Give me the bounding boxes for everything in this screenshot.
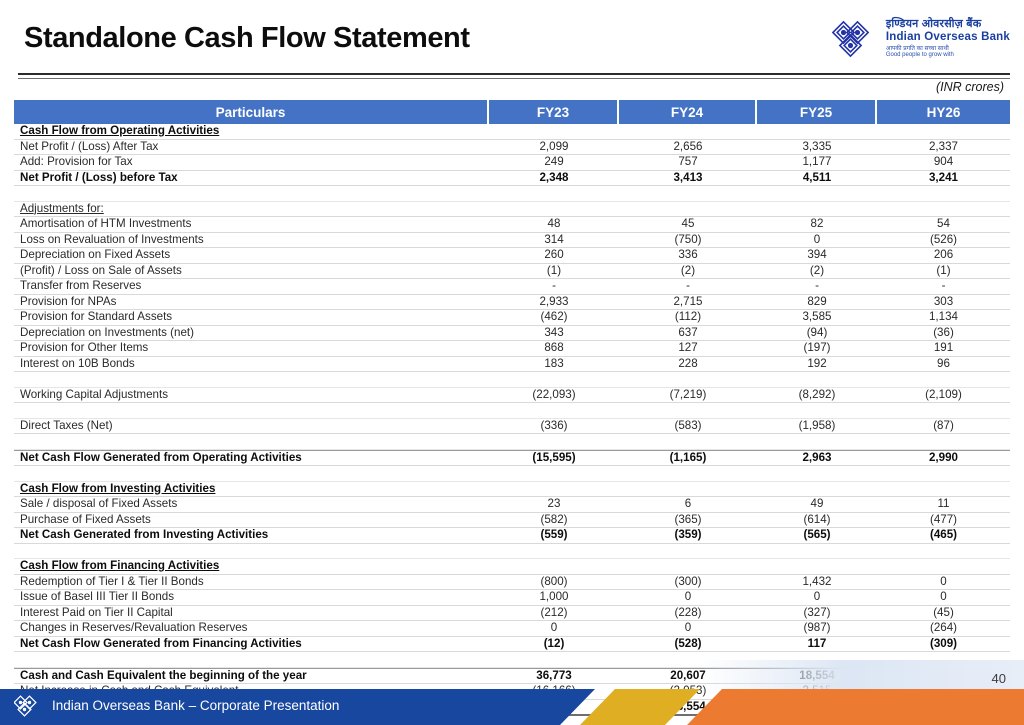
row-value: 2,337	[877, 140, 1010, 156]
row-value: (1)	[877, 264, 1010, 280]
row-label: Net Profit / (Loss) before Tax	[14, 171, 489, 187]
row-label: Net Profit / (Loss) After Tax	[14, 140, 489, 156]
page-number: 40	[992, 671, 1006, 686]
row-value: (583)	[619, 419, 757, 435]
column-header-fy24: FY24	[619, 100, 757, 124]
table-row: Depreciation on Fixed Assets260336394206	[14, 248, 1010, 264]
row-value: 206	[877, 248, 1010, 264]
row-value: 249	[489, 155, 619, 171]
row-label: Redemption of Tier I & Tier II Bonds	[14, 575, 489, 591]
table-row: Sale / disposal of Fixed Assets2364911	[14, 497, 1010, 513]
row-value: 314	[489, 233, 619, 249]
row-value: 54	[877, 217, 1010, 233]
row-value	[489, 202, 619, 218]
row-value: 3,335	[757, 140, 877, 156]
row-value: -	[757, 279, 877, 295]
row-value: 96	[877, 357, 1010, 373]
row-value: 1,432	[757, 575, 877, 591]
logo-hindi-name: इण्डियन ओवरसीज़ बैंक	[886, 19, 1010, 31]
row-label: Issue of Basel III Tier II Bonds	[14, 590, 489, 606]
row-value: (614)	[757, 513, 877, 529]
title-divider	[18, 73, 1010, 79]
row-value: 0	[619, 621, 757, 637]
row-value: (197)	[757, 341, 877, 357]
row-value: 0	[877, 590, 1010, 606]
row-value: 127	[619, 341, 757, 357]
row-label: Interest on 10B Bonds	[14, 357, 489, 373]
row-value: (228)	[619, 606, 757, 622]
row-value: 2,715	[619, 295, 757, 311]
column-header-hy26: HY26	[877, 100, 1010, 124]
row-value: -	[489, 279, 619, 295]
table-row: Net Profit / (Loss) After Tax2,0992,6563…	[14, 140, 1010, 156]
row-value	[757, 403, 877, 419]
row-value	[489, 559, 619, 575]
row-value: (465)	[877, 528, 1010, 544]
footer-bar: Indian Overseas Bank – Corporate Present…	[0, 689, 1024, 725]
table-row	[14, 186, 1010, 202]
row-value: (212)	[489, 606, 619, 622]
row-label	[14, 434, 489, 450]
footer-logo-mark	[14, 695, 42, 719]
row-value	[877, 544, 1010, 560]
row-value: 336	[619, 248, 757, 264]
table-row: Issue of Basel III Tier II Bonds1,000000	[14, 590, 1010, 606]
row-value: 2,099	[489, 140, 619, 156]
column-header-particulars: Particulars	[14, 100, 489, 124]
row-value: (94)	[757, 326, 877, 342]
row-value	[619, 559, 757, 575]
bank-logo: इण्डियन ओवरसीज़ बैंक Indian Overseas Ban…	[832, 16, 1010, 62]
row-value: 904	[877, 155, 1010, 171]
row-value: 1,134	[877, 310, 1010, 326]
row-value: (526)	[877, 233, 1010, 249]
table-row: (Profit) / Loss on Sale of Assets(1)(2)(…	[14, 264, 1010, 280]
row-value: (112)	[619, 310, 757, 326]
table-row: Provision for Other Items868127(197)191	[14, 341, 1010, 357]
row-value: (359)	[619, 528, 757, 544]
row-value: -	[877, 279, 1010, 295]
row-label: Depreciation on Fixed Assets	[14, 248, 489, 264]
row-value: -	[619, 279, 757, 295]
row-value: (264)	[877, 621, 1010, 637]
row-value: 11	[877, 497, 1010, 513]
row-value: 0	[619, 590, 757, 606]
row-value	[877, 372, 1010, 388]
row-value	[619, 482, 757, 498]
row-value	[877, 559, 1010, 575]
row-label: Provision for Standard Assets	[14, 310, 489, 326]
page-title: Standalone Cash Flow Statement	[24, 22, 470, 55]
row-value: (2)	[619, 264, 757, 280]
table-row: Add: Provision for Tax2497571,177904	[14, 155, 1010, 171]
table-row	[14, 466, 1010, 482]
row-value: 191	[877, 341, 1010, 357]
row-value: 1,177	[757, 155, 877, 171]
row-value: 2,656	[619, 140, 757, 156]
table-header-row: Particulars FY23 FY24 FY25 HY26	[14, 100, 1010, 124]
row-value: (300)	[619, 575, 757, 591]
row-value: (45)	[877, 606, 1010, 622]
table-row	[14, 544, 1010, 560]
row-label: Amortisation of HTM Investments	[14, 217, 489, 233]
row-value: (2,109)	[877, 388, 1010, 404]
row-value: (7,219)	[619, 388, 757, 404]
row-value	[619, 466, 757, 482]
table-row	[14, 403, 1010, 419]
row-label: Provision for Other Items	[14, 341, 489, 357]
row-value: 49	[757, 497, 877, 513]
row-value: (8,292)	[757, 388, 877, 404]
row-value: 0	[757, 233, 877, 249]
row-value: 48	[489, 217, 619, 233]
row-value: 3,413	[619, 171, 757, 187]
row-value	[489, 434, 619, 450]
row-value: (559)	[489, 528, 619, 544]
table-row: Net Cash Flow Generated from Financing A…	[14, 637, 1010, 653]
row-value	[757, 434, 877, 450]
row-value	[757, 124, 877, 140]
table-row: Net Profit / (Loss) before Tax2,3483,413…	[14, 171, 1010, 187]
row-value	[489, 403, 619, 419]
row-value: 0	[489, 621, 619, 637]
table-row: Net Cash Generated from Investing Activi…	[14, 528, 1010, 544]
row-value: 303	[877, 295, 1010, 311]
table-body: Cash Flow from Operating ActivitiesNet P…	[14, 124, 1010, 716]
row-value	[489, 466, 619, 482]
row-value	[489, 372, 619, 388]
row-value	[489, 482, 619, 498]
table-row: Loss on Revaluation of Investments314(75…	[14, 233, 1010, 249]
row-value: (462)	[489, 310, 619, 326]
row-value	[877, 124, 1010, 140]
row-value: 394	[757, 248, 877, 264]
table-row: Purchase of Fixed Assets(582)(365)(614)(…	[14, 513, 1010, 529]
row-value	[877, 466, 1010, 482]
row-value: (1,165)	[619, 450, 757, 467]
row-value: 2,990	[877, 450, 1010, 467]
row-value: 228	[619, 357, 757, 373]
table-row: Net Cash Flow Generated from Operating A…	[14, 450, 1010, 467]
row-value: (327)	[757, 606, 877, 622]
row-value	[757, 186, 877, 202]
row-value: (15,595)	[489, 450, 619, 467]
row-label: Cash Flow from Operating Activities	[14, 124, 489, 140]
row-label: Loss on Revaluation of Investments	[14, 233, 489, 249]
row-value: 192	[757, 357, 877, 373]
row-label: Net Cash Flow Generated from Operating A…	[14, 450, 489, 467]
row-label: Cash and Cash Equivalent the beginning o…	[14, 668, 489, 685]
table-row: Cash Flow from Operating Activities	[14, 124, 1010, 140]
row-value	[757, 372, 877, 388]
row-value: (565)	[757, 528, 877, 544]
row-value: 36,773	[489, 668, 619, 685]
footer-label: Indian Overseas Bank – Corporate Present…	[52, 698, 339, 713]
row-label: Add: Provision for Tax	[14, 155, 489, 171]
row-value: (2)	[757, 264, 877, 280]
row-value: (987)	[757, 621, 877, 637]
row-label	[14, 544, 489, 560]
row-value: 343	[489, 326, 619, 342]
table-row: Adjustments for:	[14, 202, 1010, 218]
row-value: 868	[489, 341, 619, 357]
row-value	[757, 202, 877, 218]
row-value: (477)	[877, 513, 1010, 529]
row-label	[14, 466, 489, 482]
row-label: Transfer from Reserves	[14, 279, 489, 295]
row-value: 23	[489, 497, 619, 513]
row-value: 6	[619, 497, 757, 513]
row-value: (800)	[489, 575, 619, 591]
row-label: Direct Taxes (Net)	[14, 419, 489, 435]
table-row: Changes in Reserves/Revaluation Reserves…	[14, 621, 1010, 637]
row-value: 2,963	[757, 450, 877, 467]
row-value	[489, 186, 619, 202]
table-row: Redemption of Tier I & Tier II Bonds(800…	[14, 575, 1010, 591]
row-value: 829	[757, 295, 877, 311]
row-value	[619, 403, 757, 419]
table-row	[14, 372, 1010, 388]
row-value	[619, 434, 757, 450]
row-value	[619, 544, 757, 560]
row-label	[14, 372, 489, 388]
row-value: (1,958)	[757, 419, 877, 435]
row-value: 1,000	[489, 590, 619, 606]
table-row: Amortisation of HTM Investments48458254	[14, 217, 1010, 233]
row-value	[619, 186, 757, 202]
row-label: Cash Flow from Financing Activities	[14, 559, 489, 575]
row-label: Interest Paid on Tier II Capital	[14, 606, 489, 622]
row-value: (582)	[489, 513, 619, 529]
units-label: (INR crores)	[936, 80, 1004, 94]
table-row	[14, 434, 1010, 450]
row-value: 2,348	[489, 171, 619, 187]
row-value: 3,585	[757, 310, 877, 326]
row-label: Provision for NPAs	[14, 295, 489, 311]
row-value: 0	[877, 575, 1010, 591]
row-value: (528)	[619, 637, 757, 653]
row-label: Purchase of Fixed Assets	[14, 513, 489, 529]
row-value	[757, 544, 877, 560]
table-row: Transfer from Reserves----	[14, 279, 1010, 295]
row-value: 183	[489, 357, 619, 373]
table-row: Provision for NPAs2,9332,715829303	[14, 295, 1010, 311]
row-label: Net Cash Generated from Investing Activi…	[14, 528, 489, 544]
row-value	[619, 124, 757, 140]
row-value: 260	[489, 248, 619, 264]
row-value: (365)	[619, 513, 757, 529]
bank-logo-mark	[832, 16, 880, 62]
table-row: Interest on 10B Bonds18322819296	[14, 357, 1010, 373]
row-value	[757, 559, 877, 575]
row-label: Sale / disposal of Fixed Assets	[14, 497, 489, 513]
row-value	[489, 124, 619, 140]
row-label: Cash Flow from Investing Activities	[14, 482, 489, 498]
row-value: 4,511	[757, 171, 877, 187]
row-value	[757, 466, 877, 482]
logo-tagline-english: Good people to grow with	[886, 52, 1010, 58]
table-row: Direct Taxes (Net)(336)(583)(1,958)(87)	[14, 419, 1010, 435]
row-value	[877, 202, 1010, 218]
row-value: (750)	[619, 233, 757, 249]
row-value: 637	[619, 326, 757, 342]
row-value	[619, 372, 757, 388]
row-value: 2,933	[489, 295, 619, 311]
row-value	[877, 434, 1010, 450]
row-value: 82	[757, 217, 877, 233]
row-value: (87)	[877, 419, 1010, 435]
row-label: Net Cash Flow Generated from Financing A…	[14, 637, 489, 653]
column-header-fy25: FY25	[757, 100, 877, 124]
row-value: (36)	[877, 326, 1010, 342]
row-value: (1)	[489, 264, 619, 280]
row-value	[877, 403, 1010, 419]
row-value: 117	[757, 637, 877, 653]
table-row: Provision for Standard Assets(462)(112)3…	[14, 310, 1010, 326]
row-value	[757, 482, 877, 498]
column-header-fy23: FY23	[489, 100, 619, 124]
row-label: Changes in Reserves/Revaluation Reserves	[14, 621, 489, 637]
row-label	[14, 652, 489, 668]
cash-flow-table: Particulars FY23 FY24 FY25 HY26 Cash Flo…	[14, 100, 1010, 716]
row-value	[489, 544, 619, 560]
table-row: Working Capital Adjustments(22,093)(7,21…	[14, 388, 1010, 404]
row-label: Working Capital Adjustments	[14, 388, 489, 404]
table-row: Depreciation on Investments (net)343637(…	[14, 326, 1010, 342]
row-label: (Profit) / Loss on Sale of Assets	[14, 264, 489, 280]
logo-english-name: Indian Overseas Bank	[886, 31, 1010, 43]
row-value	[489, 652, 619, 668]
row-value: 757	[619, 155, 757, 171]
row-label: Depreciation on Investments (net)	[14, 326, 489, 342]
row-value	[619, 202, 757, 218]
row-value: (12)	[489, 637, 619, 653]
row-label	[14, 403, 489, 419]
table-row: Cash Flow from Investing Activities	[14, 482, 1010, 498]
row-label: Adjustments for:	[14, 202, 489, 218]
row-value: (22,093)	[489, 388, 619, 404]
row-value: 0	[757, 590, 877, 606]
row-label	[14, 186, 489, 202]
row-value: (336)	[489, 419, 619, 435]
table-row: Cash Flow from Financing Activities	[14, 559, 1010, 575]
row-value: (309)	[877, 637, 1010, 653]
row-value	[877, 482, 1010, 498]
table-row: Interest Paid on Tier II Capital(212)(22…	[14, 606, 1010, 622]
row-value: 45	[619, 217, 757, 233]
row-value	[877, 186, 1010, 202]
row-value: 3,241	[877, 171, 1010, 187]
